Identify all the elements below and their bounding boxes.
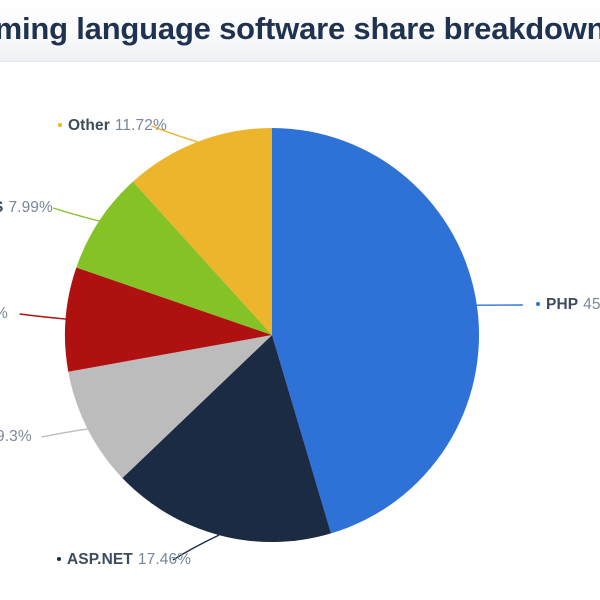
- pie-slice-label: ASP.NET17.46%: [57, 551, 191, 569]
- pie-slice-label-name: S: [0, 199, 3, 216]
- leader-line: [53, 208, 99, 221]
- pie-slice-label: S7.99%: [0, 199, 53, 217]
- pie-slice-label: %: [0, 305, 8, 323]
- pie-slice-group: [65, 128, 479, 542]
- pie-slice-label-value: 9.3%: [0, 428, 32, 445]
- pie-slice-label: Other11.72%: [58, 117, 167, 135]
- legend-bullet-icon: [58, 123, 62, 127]
- page-title: ming language software share breakdown: [0, 6, 600, 52]
- pie-slice-label-value: 11.72%: [115, 117, 167, 134]
- pie-chart-container: PHP45.4ASP.NET17.46%9.3%%S7.99%Other11.7…: [0, 62, 600, 600]
- leader-line: [20, 314, 66, 319]
- pie-chart-svg: [0, 62, 600, 600]
- pie-slice-label-value: 17.46%: [138, 551, 191, 568]
- chart-header: ming language software share breakdown: [0, 0, 600, 62]
- pie-slice-label-name: ASP.NET: [67, 551, 133, 568]
- leader-line: [42, 429, 88, 437]
- pie-slice-label-value: 45.4: [583, 296, 600, 313]
- pie-slice-label-value: %: [0, 305, 8, 322]
- pie-slice-label: 9.3%: [0, 428, 32, 446]
- pie-slice-label-name: Other: [68, 117, 110, 134]
- pie-slice-label-value: 7.99%: [8, 199, 52, 216]
- pie-slice-label: PHP45.4: [536, 296, 600, 314]
- pie-chart-page: ming language software share breakdown P…: [0, 0, 600, 600]
- pie-slice-label-name: PHP: [546, 296, 578, 313]
- legend-bullet-icon: [57, 557, 61, 561]
- legend-bullet-icon: [536, 302, 540, 306]
